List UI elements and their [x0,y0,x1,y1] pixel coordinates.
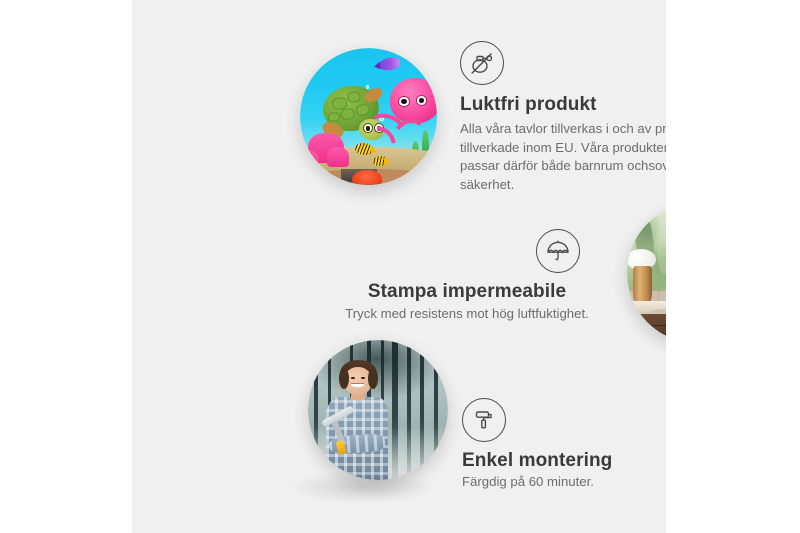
umbrella-icon [536,229,580,273]
octopus-eye [416,95,427,105]
feature-image-bathroom-botanical-wallpaper [627,203,666,343]
feature-assembly: Enkel montering Färgdig på 60 minuter. [462,398,666,492]
woman-hair-side [339,368,349,389]
content-panel: Luktfri produkt Alla våra tavlor tillver… [132,0,666,533]
octopus-head [390,78,437,123]
pink-coral [303,151,319,169]
feature-image-underwater-cartoon-scene [300,48,437,185]
woman-hair-side [368,368,378,389]
crab [352,170,382,185]
paint-roller-icon [462,398,506,442]
woman-smile [351,383,364,387]
feature-odorless: Luktfri produkt Alla våra tavlor tillver… [460,41,666,194]
wood-vanity-cabinet [635,314,666,343]
feature-title: Stampa impermeabile [332,281,602,303]
pink-coral [327,147,349,168]
octopus-eye [398,96,409,106]
feature-title: Enkel montering [462,450,666,472]
feature-title: Luktfri produkt [460,94,666,116]
promo-graphic: Luktfri produkt Alla våra tavlor tillver… [0,0,800,533]
feature-description: Alla våra tavlor tillverkas i och av pro… [460,120,666,194]
feature-waterproof: Stampa impermeabile Tryck med resistens … [332,229,602,324]
feature-description: Tryck med resistens mot hög luftfuktighe… [332,305,602,324]
feature-description: Färgdig på 60 minuter. [462,473,666,492]
gold-vase [633,266,653,304]
yellow-fish [372,156,386,167]
feature-image-woman-with-paint-roller-forest [308,340,448,480]
no-odor-spray-bottle-icon [460,41,504,85]
